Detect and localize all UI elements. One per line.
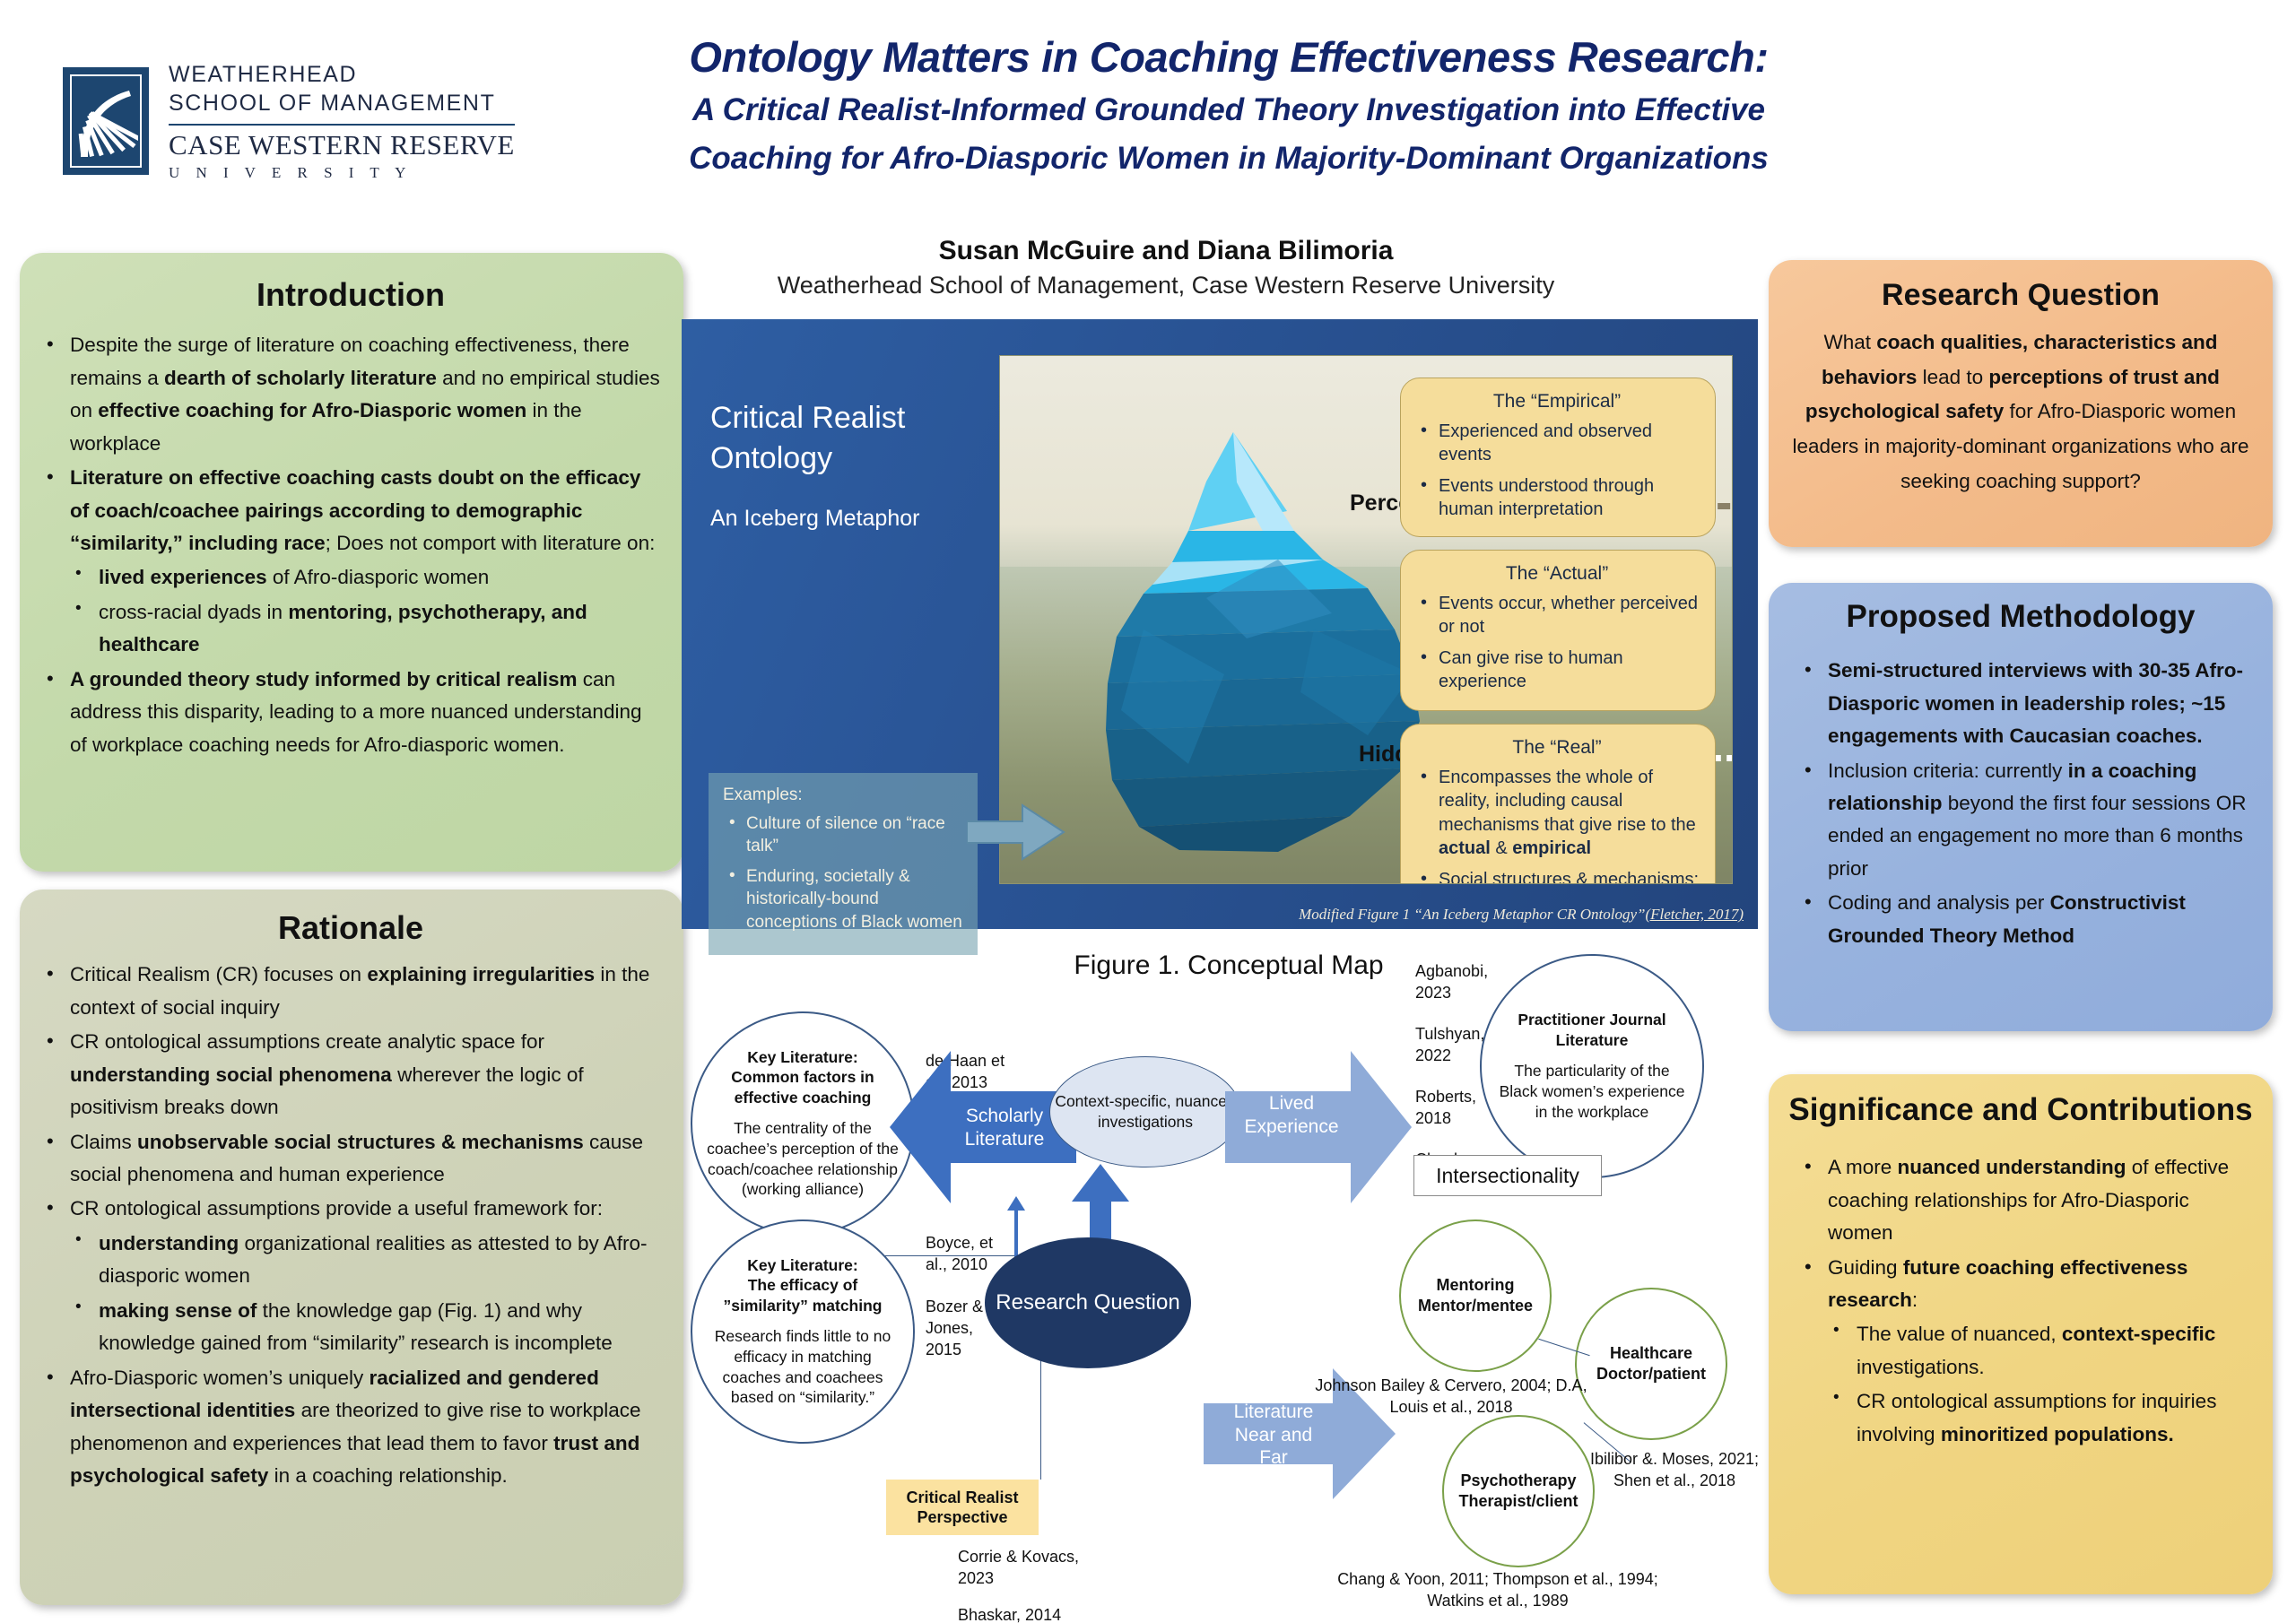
ref-mentoring: Johnson Bailey & Cervero, 2004; D.A, Lou… — [1299, 1376, 1604, 1419]
callout-empirical-title: The “Empirical” — [1413, 391, 1700, 412]
introduction-item: Literature on effective coaching casts d… — [39, 462, 662, 560]
logo-line-weatherhead: WEATHERHEAD — [169, 62, 357, 87]
arrow-thin-up-icon — [1006, 1196, 1026, 1259]
introduction-item: Despite the surge of literature on coach… — [39, 329, 662, 460]
significance-heading: Significance and Contributions — [1788, 1092, 2253, 1128]
arrow-lived-experience-label: Lived Experience — [1238, 1092, 1345, 1138]
callout-empirical: The “Empirical” Experienced and observed… — [1400, 378, 1716, 537]
callout-real-item: Social structures & mechanisms; unobserv… — [1413, 868, 1700, 884]
ref-bhaskar-2014: Bhaskar, 2014 — [958, 1605, 1119, 1623]
iceberg-subtitle: An Iceberg Metaphor — [710, 506, 919, 532]
rationale-item: Critical Realism (CR) focuses on explain… — [39, 959, 662, 1024]
circle-common-heading-1: Key Literature: — [747, 1048, 858, 1066]
examples-item: Culture of silence on “race talk” — [723, 812, 965, 858]
badge-intersectionality: Intersectionality — [1413, 1155, 1602, 1196]
callout-actual: The “Actual” Events occur, whether perce… — [1400, 550, 1716, 711]
circle-common-body: The centrality of the coachee’s percepti… — [707, 1118, 899, 1200]
poster-subtitle-line1: A Critical Realist-Informed Grounded The… — [574, 91, 1883, 131]
significance-list: A more nuanced understanding of effectiv… — [1788, 1151, 2253, 1451]
iceberg-photo: Perceived Hidden The “Empirical” Experie… — [999, 355, 1733, 884]
iceberg-credit: Modified Figure 1 “An Iceberg Metaphor C… — [1299, 906, 1744, 924]
poster-title: Ontology Matters in Coaching Effectivene… — [574, 34, 1883, 82]
circle-similarity-body: Research finds little to no efficacy in … — [707, 1326, 899, 1408]
logo-divider — [169, 124, 515, 126]
circle-mentoring: Mentoring Mentor/mentee — [1399, 1219, 1552, 1372]
methodology-list: Semi-structured interviews with 30-35 Af… — [1792, 655, 2249, 952]
examples-heading: Examples: — [723, 785, 965, 805]
circle-mentoring-line1: Mentoring — [1437, 1276, 1515, 1294]
callout-actual-item: Events occur, whether perceived or not — [1413, 592, 1700, 639]
examples-box: Examples: Culture of silence on “race ta… — [709, 773, 978, 955]
circle-similarity-heading-2: The efficacy of — [748, 1276, 858, 1294]
panel-significance-contributions: Significance and Contributions A more nu… — [1769, 1074, 2273, 1594]
panel-introduction: Introduction Despite the surge of litera… — [20, 253, 683, 872]
poster-title-block: Ontology Matters in Coaching Effectivene… — [574, 34, 1883, 179]
logo-line-cwru: CASE WESTERN RESERVE — [169, 131, 515, 161]
authors-block: Susan McGuire and Diana Bilimoria Weathe… — [682, 235, 1650, 301]
circle-practitioner-heading-1: Practitioner Journal — [1518, 1011, 1665, 1028]
circle-common-heading-3: effective coaching — [735, 1089, 872, 1107]
circle-key-literature-similarity: Key Literature: The efficacy of ”similar… — [691, 1219, 915, 1444]
callout-actual-item: Can give rise to human experience — [1413, 647, 1700, 694]
circle-similarity-heading-1: Key Literature: — [747, 1256, 858, 1274]
ellipse-rq-text: Research Question — [996, 1289, 1179, 1316]
introduction-list: Despite the surge of literature on coach… — [39, 329, 662, 761]
rationale-item: CR ontological assumptions create analyt… — [39, 1026, 662, 1124]
ref-healthcare: Ibilibor &. Moses, 2021; Shen et al., 20… — [1589, 1449, 1760, 1492]
box-critical-realist-perspective: Critical Realist Perspective — [886, 1480, 1039, 1535]
iceberg-title: Critical Realist Ontology — [710, 398, 905, 479]
rationale-item: CR ontological assumptions provide a use… — [39, 1193, 662, 1225]
callout-actual-title: The “Actual” — [1413, 563, 1700, 585]
circle-mentoring-line2: Mentor/mentee — [1418, 1297, 1533, 1315]
figure1-conceptual-map: Figure 1. Conceptual Map Key Literature:… — [691, 942, 1767, 1623]
callout-empirical-item: Experienced and observed events — [1413, 420, 1700, 467]
rationale-list: Critical Realism (CR) focuses on explain… — [39, 959, 662, 1492]
crp-text: Critical Realist Perspective — [886, 1488, 1039, 1528]
callout-empirical-item: Events understood through human interpre… — [1413, 474, 1700, 522]
rationale-item: understanding organizational realities a… — [39, 1228, 662, 1293]
introduction-item: lived experiences of Afro-diasporic wome… — [39, 561, 662, 594]
ref-corrie-kovacs-2023: Corrie & Kovacs, 2023 — [958, 1547, 1119, 1590]
panel-research-question: Research Question What coach qualities, … — [1769, 260, 2273, 547]
circle-common-heading-2: Common factors in — [731, 1068, 874, 1086]
logo-line-school: SCHOOL OF MANAGEMENT — [169, 91, 495, 116]
ellipse-context-text: Context-specific, nuanced investigations — [1050, 1091, 1240, 1133]
circle-practitioner-body: The particularity of the Black women’s e… — [1496, 1061, 1688, 1122]
circle-psychotherapy: Psychotherapy Therapist/client — [1442, 1415, 1595, 1567]
circle-healthcare-line1: Healthcare — [1610, 1344, 1692, 1362]
intersectionality-text: Intersectionality — [1436, 1164, 1579, 1188]
poster-subtitle-line2: Coaching for Afro-Diasporic Women in Maj… — [574, 139, 1883, 179]
circle-practitioner-heading-2: Literature — [1556, 1031, 1629, 1049]
iceberg-title-line1: Critical Realist — [710, 401, 905, 435]
ellipse-research-question: Research Question — [985, 1237, 1191, 1368]
iceberg-title-line2: Ontology — [710, 441, 832, 475]
circle-psychotherapy-line2: Therapist/client — [1458, 1492, 1578, 1510]
logo-line-university: U N I V E R S I T Y — [169, 164, 515, 182]
circle-practitioner-journal-literature: Practitioner Journal Literature The part… — [1480, 954, 1704, 1178]
methodology-heading: Proposed Methodology — [1792, 599, 2249, 635]
cwru-shield-icon — [63, 67, 149, 175]
callout-real: The “Real” Encompasses the whole of real… — [1400, 724, 1716, 884]
panel-rationale: Rationale Critical Realism (CR) focuses … — [20, 890, 683, 1605]
methodology-item: Inclusion criteria: currently in a coach… — [1792, 755, 2249, 886]
examples-item: Enduring, societally & historically-boun… — [723, 865, 965, 933]
callout-empirical-list: Experienced and observed eventsEvents un… — [1413, 420, 1700, 522]
iceberg-credit-text: Modified Figure 1 “An Iceberg Metaphor C… — [1299, 906, 1645, 923]
iceberg-figure: Critical Realist Ontology An Iceberg Met… — [682, 319, 1758, 929]
arrow-scholarly-literature-label: Scholarly Literature — [951, 1105, 1058, 1150]
callout-actual-list: Events occur, whether perceived or notCa… — [1413, 592, 1700, 694]
introduction-item: A grounded theory study informed by crit… — [39, 664, 662, 761]
university-logo: WEATHERHEAD SCHOOL OF MANAGEMENT CASE WE… — [63, 63, 520, 179]
significance-item: Guiding future coaching effectiveness re… — [1788, 1252, 2253, 1317]
circle-healthcare-line2: Doctor/patient — [1596, 1365, 1706, 1383]
significance-item: A more nuanced understanding of effectiv… — [1788, 1151, 2253, 1249]
panel-proposed-methodology: Proposed Methodology Semi-structured int… — [1769, 583, 2273, 1031]
ref-agbanobi-2023: Agbanobi, 2023 — [1415, 961, 1512, 1004]
significance-item: CR ontological assumptions for inquiries… — [1788, 1385, 2253, 1451]
research-question-heading: Research Question — [1792, 278, 2249, 313]
rationale-item: Afro-Diasporic women’s uniquely racializ… — [39, 1362, 662, 1493]
author-affiliation: Weatherhead School of Management, Case W… — [682, 271, 1650, 301]
rationale-heading: Rationale — [39, 909, 662, 946]
ref-psychotherapy: Chang & Yoon, 2011; Thompson et al., 199… — [1309, 1569, 1686, 1612]
introduction-heading: Introduction — [39, 276, 662, 313]
introduction-item: cross-racial dyads in mentoring, psychot… — [39, 596, 662, 662]
circle-similarity-heading-3: ”similarity” matching — [724, 1297, 883, 1315]
poster-root: WEATHERHEAD SCHOOL OF MANAGEMENT CASE WE… — [0, 0, 2296, 1623]
methodology-item: Coding and analysis per Constructivist G… — [1792, 887, 2249, 952]
research-question-body: What coach qualities, characteristics an… — [1792, 325, 2249, 499]
examples-arrow-icon — [967, 800, 1065, 864]
methodology-item: Semi-structured interviews with 30-35 Af… — [1792, 655, 2249, 752]
author-names: Susan McGuire and Diana Bilimoria — [682, 235, 1650, 267]
arrow-lived-text: Lived Experience — [1244, 1093, 1338, 1137]
rationale-item: Claims unobservable social structures & … — [39, 1126, 662, 1192]
callout-real-item: Encompasses the whole of reality, includ… — [1413, 766, 1700, 861]
iceberg-credit-link[interactable]: (Fletcher, 2017) — [1645, 906, 1744, 923]
ellipse-context-specific: Context-specific, nuanced investigations — [1049, 1056, 1241, 1167]
rationale-item: making sense of the knowledge gap (Fig. … — [39, 1295, 662, 1360]
callout-real-list: Encompasses the whole of reality, includ… — [1413, 766, 1700, 884]
circle-key-literature-common-factors: Key Literature: Common factors in effect… — [691, 1011, 915, 1236]
examples-list: Culture of silence on “race talk”Endurin… — [723, 812, 965, 933]
callout-real-title: The “Real” — [1413, 737, 1700, 759]
arrow-scholarly-text: Scholarly Literature — [965, 1106, 1045, 1150]
circle-psychotherapy-line1: Psychotherapy — [1460, 1471, 1576, 1489]
significance-item: The value of nuanced, context-specific i… — [1788, 1318, 2253, 1384]
